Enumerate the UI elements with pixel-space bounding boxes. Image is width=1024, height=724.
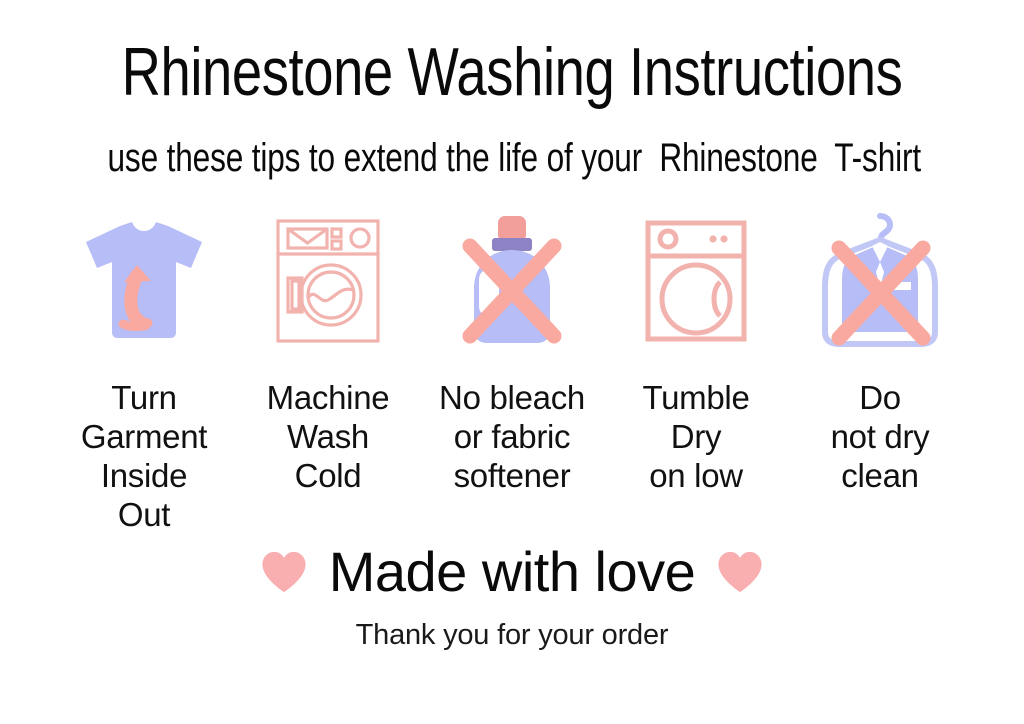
thank-you-text: Thank you for your order [0,618,1024,652]
page-title: Rhinestone Washing Instructions [102,33,921,111]
footer: Made with love Thank you for your order [0,536,1024,652]
no-bleach-bottle-icon [437,206,587,356]
instruction-label: Turn Garment Inside Out [81,378,207,534]
instruction-label: Machine Wash Cold [267,378,390,495]
page-subtitle: use these tips to extend the life of you… [108,135,917,181]
instruction-item-turn-inside-out: Turn Garment Inside Out [55,206,233,534]
tumble-dryer-icon [621,206,771,356]
heart-icon [261,550,307,594]
washing-machine-icon [253,206,403,356]
no-dry-clean-icon [805,206,955,356]
instruction-columns: Turn Garment Inside Out [55,206,969,534]
instruction-item-no-dry-clean: Do not dry clean [791,206,969,495]
tshirt-turn-inside-out-icon [69,206,219,356]
made-with-love-text: Made with love [329,542,696,602]
made-with-love-row: Made with love [0,536,1024,608]
heart-icon [717,550,763,594]
instruction-item-machine-wash-cold: Machine Wash Cold [239,206,417,495]
instruction-item-tumble-dry-low: Tumble Dry on low [607,206,785,495]
instruction-label: Tumble Dry on low [642,378,749,495]
instruction-item-no-bleach: No bleach or fabric softener [423,206,601,495]
instruction-label: No bleach or fabric softener [439,378,585,495]
instruction-label: Do not dry clean [831,378,930,495]
washing-instructions-card: Rhinestone Washing Instructions use thes… [0,0,1024,724]
